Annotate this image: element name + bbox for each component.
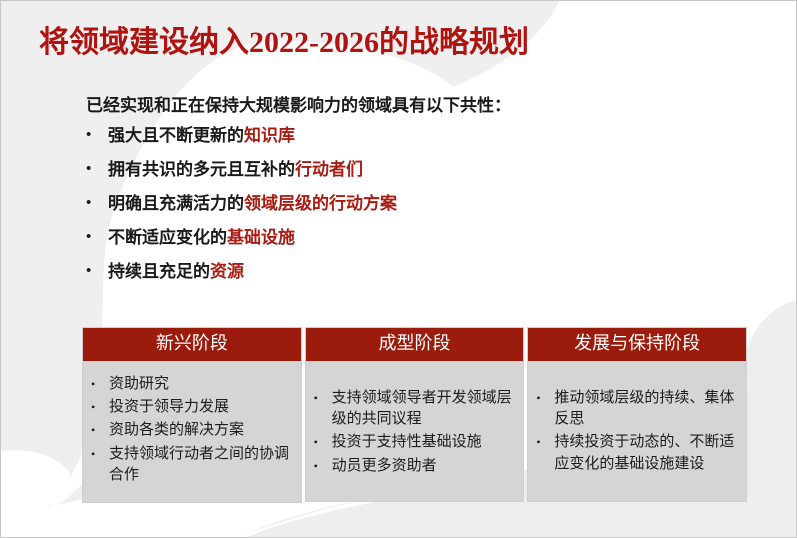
column-header: 发展与保持阶段: [527, 327, 747, 362]
list-item-plain: 不断适应变化的: [108, 228, 227, 247]
table-cell-text: 推动领域层级的持续、集体反思: [554, 388, 736, 431]
bullet-dot-icon: •: [536, 388, 554, 409]
bg-white-notch: [1, 450, 72, 513]
list-item-plain: 持续且充足的: [108, 262, 210, 281]
bullet-dot-icon: •: [91, 374, 109, 395]
bg-gray-crescent-right: [739, 300, 796, 537]
lead-paragraph: 已经实现和正在保持大规模影响力的领域具有以下共性：: [86, 91, 511, 116]
table-row: • 持续投资于动态的、不断适应变化的基础设施建设: [536, 432, 736, 475]
table-row: • 支持领域行动者之间的协调合作: [91, 444, 291, 487]
list-item: • 明确且充满活力的领域层级的行动方案: [86, 193, 646, 227]
list-item: • 强大且不断更新的知识库: [86, 125, 646, 159]
table-cell-text: 资助研究: [109, 374, 291, 395]
list-item-highlight: 资源: [210, 262, 244, 281]
bullet-dot-icon: •: [314, 456, 332, 477]
table-cell-text: 投资于支持性基础设施: [332, 432, 514, 453]
table-cell-text: 支持领域领导者开发领域层级的共同议程: [332, 388, 514, 431]
table-column-emerging: 新兴阶段 • 资助研究 • 投资于领导力发展 • 资助各类的解决方案 • 支持领…: [82, 327, 302, 503]
table-row: • 支持领域领导者开发领域层级的共同议程: [314, 388, 514, 431]
bullet-dot-icon: •: [86, 159, 108, 179]
column-body: • 资助研究 • 投资于领导力发展 • 资助各类的解决方案 • 支持领域行动者之…: [82, 362, 302, 503]
column-header: 新兴阶段: [82, 327, 302, 362]
common-traits-list: • 强大且不断更新的知识库 • 拥有共识的多元且互补的行动者们 • 明确且充满活…: [86, 125, 646, 295]
bullet-dot-icon: •: [86, 227, 108, 247]
page-title: 将领域建设纳入2022-2026的战略规划: [39, 26, 529, 59]
list-item-text: 不断适应变化的基础设施: [108, 227, 295, 249]
list-item: • 不断适应变化的基础设施: [86, 227, 646, 261]
list-item-plain: 明确且充满活力的: [108, 194, 244, 213]
bullet-dot-icon: •: [86, 193, 108, 213]
list-item-highlight: 行动者们: [295, 160, 363, 179]
list-item-highlight: 领域层级的行动方案: [244, 194, 397, 213]
bullet-dot-icon: •: [314, 388, 332, 409]
list-item-highlight: 知识库: [244, 126, 295, 145]
table-column-forming: 成型阶段 • 支持领域领导者开发领域层级的共同议程 • 投资于支持性基础设施 •…: [305, 327, 525, 503]
column-body: • 支持领域领导者开发领域层级的共同议程 • 投资于支持性基础设施 • 动员更多…: [305, 362, 525, 502]
column-body: • 推动领域层级的持续、集体反思 • 持续投资于动态的、不断适应变化的基础设施建…: [527, 362, 747, 502]
list-item-highlight: 基础设施: [227, 228, 295, 247]
table-cell-text: 投资于领导力发展: [109, 397, 291, 418]
table-cell-text: 资助各类的解决方案: [109, 420, 291, 441]
table-row: • 推动领域层级的持续、集体反思: [536, 388, 736, 431]
table-column-growing-sustaining: 发展与保持阶段 • 推动领域层级的持续、集体反思 • 持续投资于动态的、不断适应…: [527, 327, 747, 503]
list-item-plain: 拥有共识的多元且互补的: [108, 160, 295, 179]
table-row: • 资助研究: [91, 374, 291, 395]
column-header: 成型阶段: [305, 327, 525, 362]
table-row: • 投资于领导力发展: [91, 397, 291, 418]
list-item-plain: 强大且不断更新的: [108, 126, 244, 145]
list-item-text: 强大且不断更新的知识库: [108, 125, 295, 147]
bg-gray-crescent-right-2: [747, 306, 796, 537]
table-cell-text: 动员更多资助者: [332, 456, 514, 477]
bullet-dot-icon: •: [91, 420, 109, 441]
table-cell-text: 持续投资于动态的、不断适应变化的基础设施建设: [554, 432, 736, 475]
list-item-text: 持续且充足的资源: [108, 261, 244, 283]
table-row: • 投资于支持性基础设施: [314, 432, 514, 453]
list-item-text: 拥有共识的多元且互补的行动者们: [108, 159, 363, 181]
bullet-dot-icon: •: [91, 397, 109, 418]
bullet-dot-icon: •: [91, 444, 109, 465]
bullet-dot-icon: •: [536, 432, 554, 453]
list-item: • 拥有共识的多元且互补的行动者们: [86, 159, 646, 193]
bullet-dot-icon: •: [86, 261, 108, 281]
bullet-dot-icon: •: [314, 432, 332, 453]
list-item: • 持续且充足的资源: [86, 261, 646, 295]
table-row: • 动员更多资助者: [314, 456, 514, 477]
table-row: • 资助各类的解决方案: [91, 420, 291, 441]
bullet-dot-icon: •: [86, 125, 108, 145]
table-cell-text: 支持领域行动者之间的协调合作: [109, 444, 291, 487]
stages-table: 新兴阶段 • 资助研究 • 投资于领导力发展 • 资助各类的解决方案 • 支持领…: [82, 327, 747, 503]
list-item-text: 明确且充满活力的领域层级的行动方案: [108, 193, 397, 215]
slide-canvas: 将领域建设纳入2022-2026的战略规划 已经实现和正在保持大规模影响力的领域…: [0, 0, 797, 538]
